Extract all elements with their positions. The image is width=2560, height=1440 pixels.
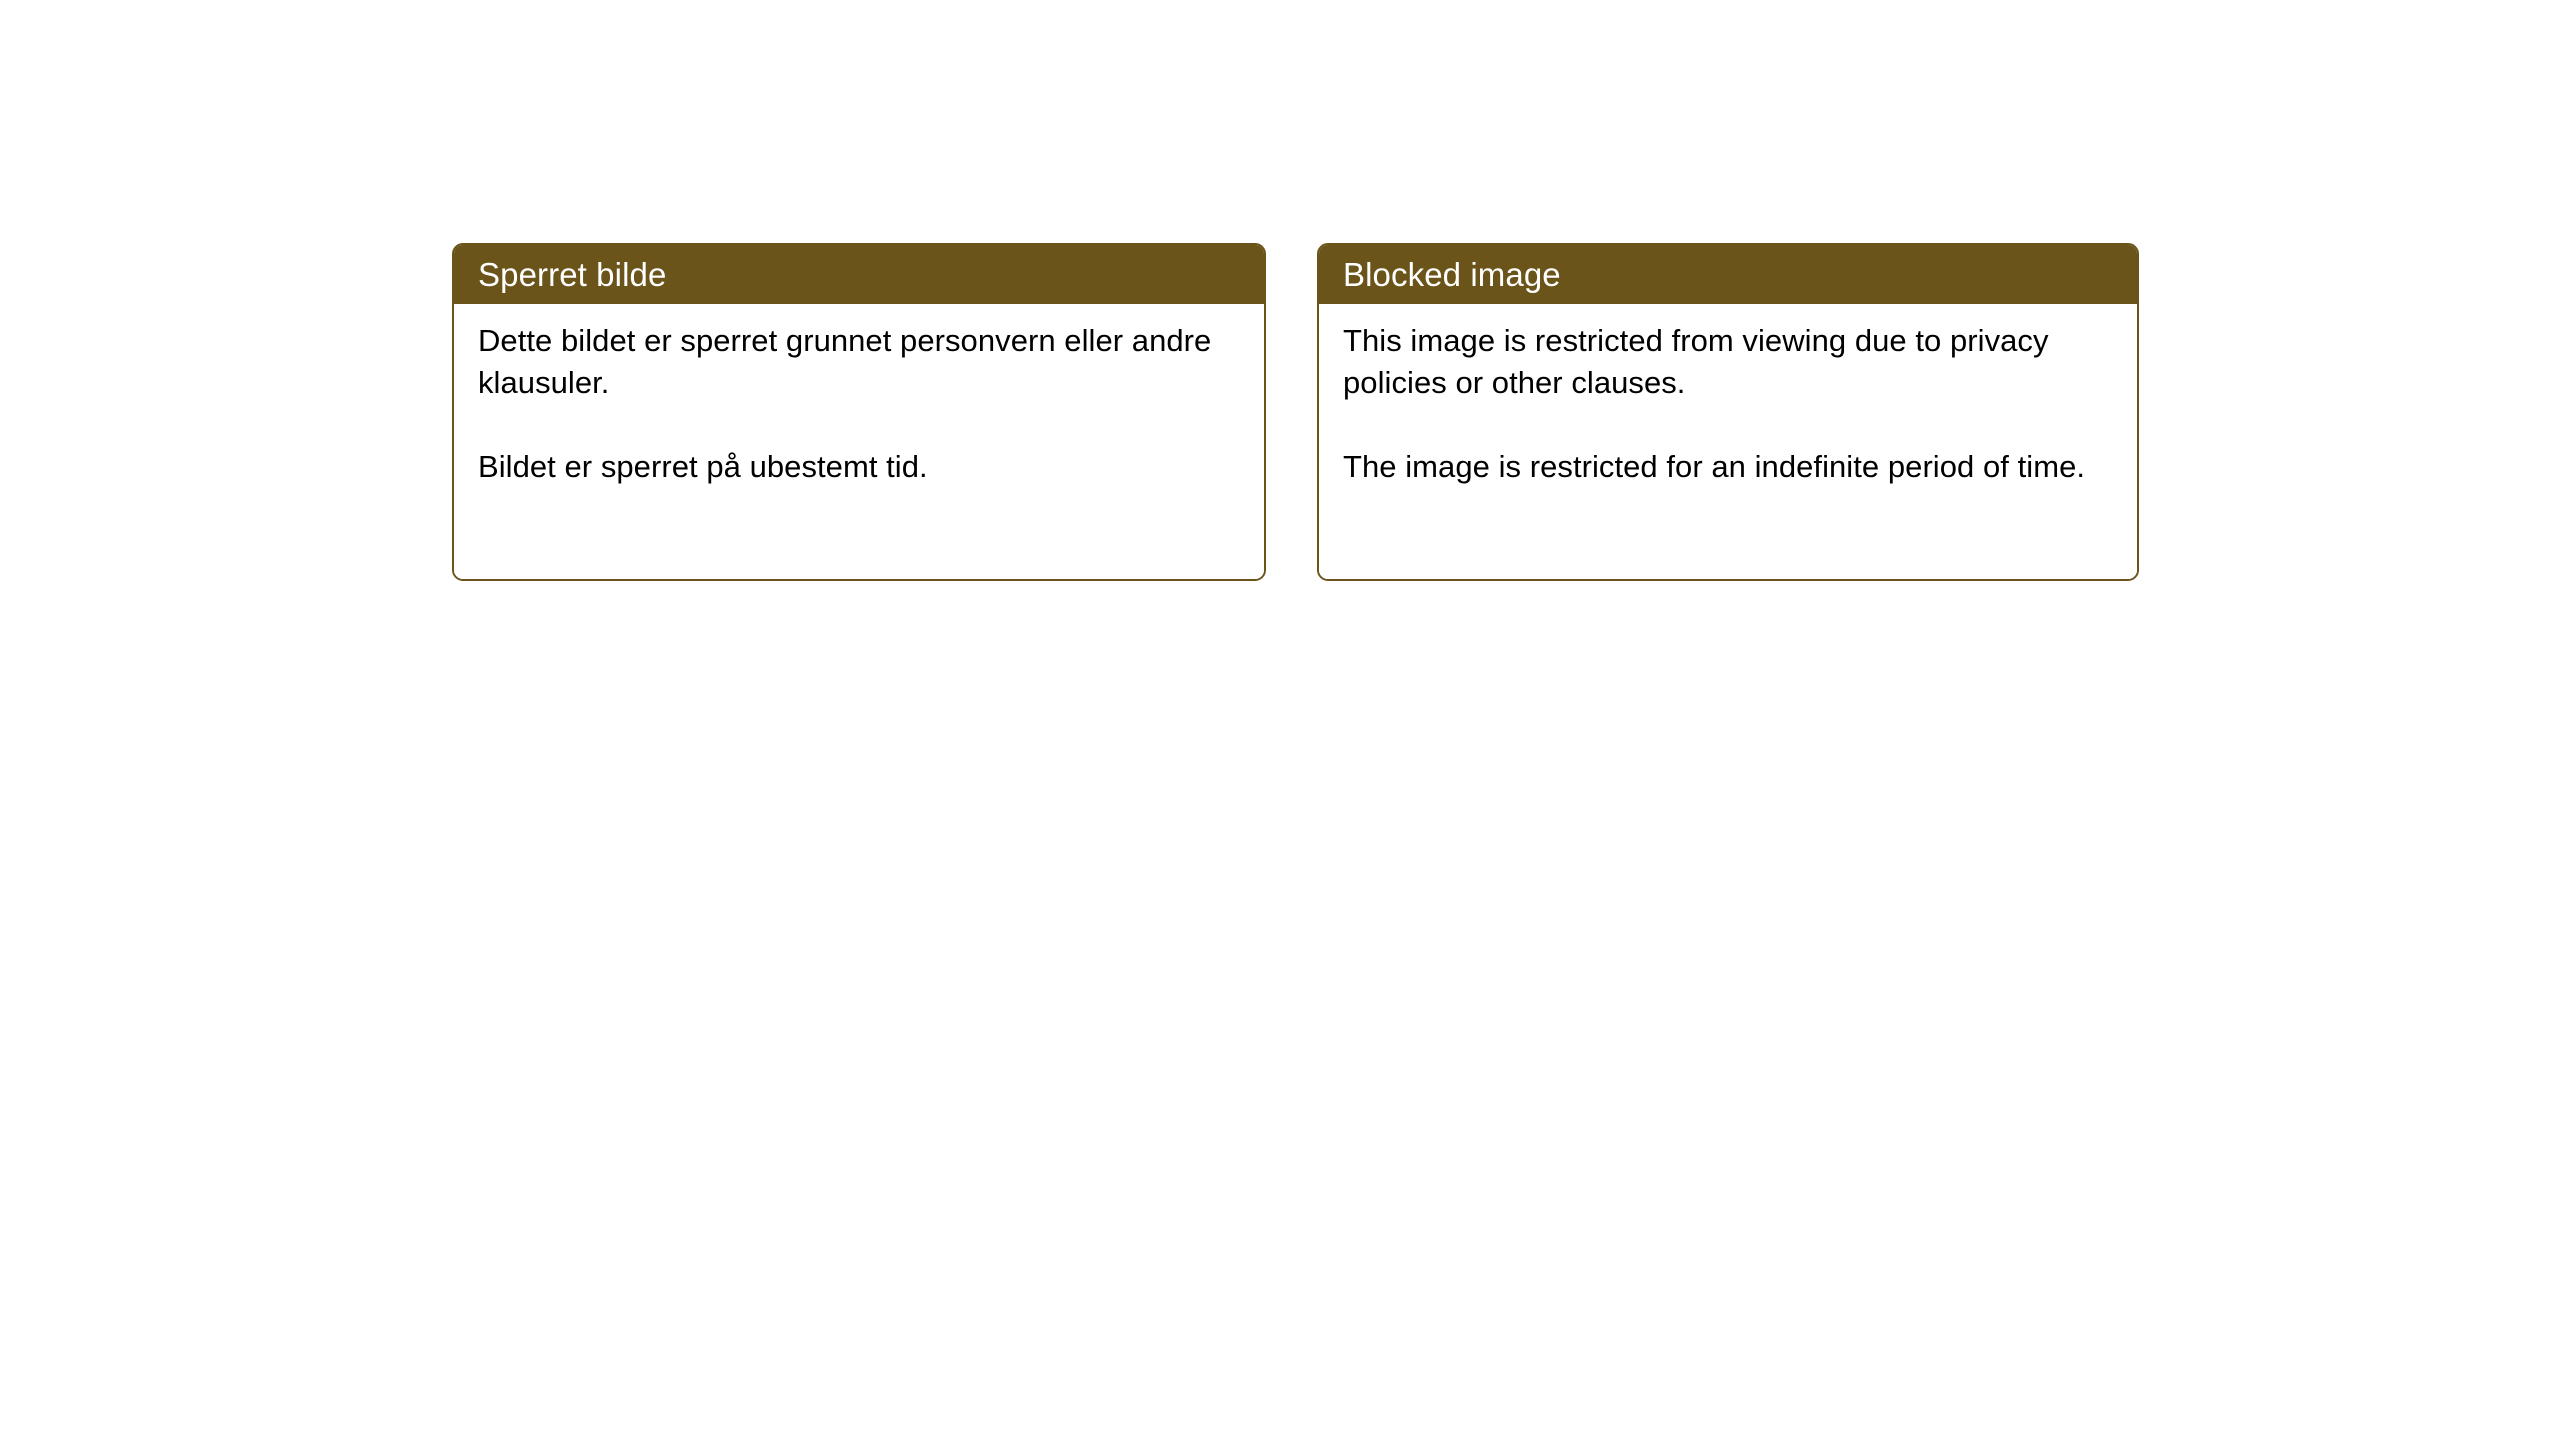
card-paragraph-duration-norwegian: Bildet er sperret på ubestemt tid. <box>478 446 1242 488</box>
blocked-image-card-english: Blocked image This image is restricted f… <box>1317 243 2139 581</box>
card-paragraph-duration-english: The image is restricted for an indefinit… <box>1343 446 2115 488</box>
blocked-image-card-norwegian: Sperret bilde Dette bildet er sperret gr… <box>452 243 1266 581</box>
card-body-norwegian: Dette bildet er sperret grunnet personve… <box>454 304 1264 579</box>
card-title-norwegian: Sperret bilde <box>454 245 1264 304</box>
card-title-english: Blocked image <box>1319 245 2137 304</box>
card-body-english: This image is restricted from viewing du… <box>1319 304 2137 579</box>
card-paragraph-reason-english: This image is restricted from viewing du… <box>1343 320 2115 404</box>
card-paragraph-reason-norwegian: Dette bildet er sperret grunnet personve… <box>478 320 1242 404</box>
blocked-image-notice-area: Sperret bilde Dette bildet er sperret gr… <box>452 243 2139 581</box>
